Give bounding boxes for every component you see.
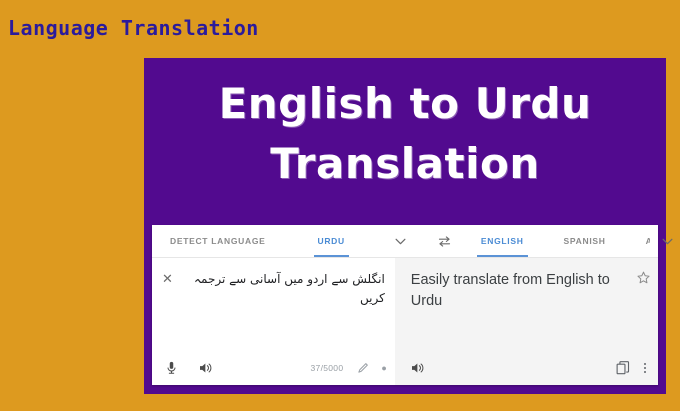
translator-card: DETECT LANGUAGE URDU ENGLISH SPANISH ARA… <box>152 225 658 385</box>
page-title: Language Translation <box>8 16 259 40</box>
source-language-tab-urdu[interactable]: URDU <box>314 225 349 257</box>
swap-languages-icon[interactable] <box>434 225 455 257</box>
speaker-icon[interactable] <box>199 362 213 374</box>
target-toolbar <box>395 351 658 385</box>
character-count: 37/5000 <box>311 363 344 373</box>
star-icon[interactable] <box>637 271 650 289</box>
translation-panes: ✕ انگلش سے اردو میں آسانی سے ترجمہ کریں <box>152 258 658 385</box>
copy-icon[interactable] <box>616 361 630 375</box>
promo-banner: English to Urdu Translation DETECT LANGU… <box>144 58 666 394</box>
target-language-tab-arabic[interactable]: ARABIC <box>642 225 650 257</box>
dot <box>644 367 646 369</box>
detect-language-tab[interactable]: DETECT LANGUAGE <box>166 225 270 257</box>
source-input-area[interactable]: ✕ انگلش سے اردو میں آسانی سے ترجمہ کریں <box>152 258 395 351</box>
translated-text: Easily translate from English to Urdu <box>411 270 637 312</box>
target-output-area: Easily translate from English to Urdu <box>395 258 658 351</box>
source-toolbar: 37/5000 ● <box>152 351 395 385</box>
more-icon[interactable]: ● <box>381 364 386 373</box>
banner-heading-line-2: Translation <box>144 134 666 194</box>
dot <box>644 371 646 373</box>
banner-heading: English to Urdu Translation <box>144 74 666 193</box>
microphone-icon[interactable] <box>166 361 177 375</box>
source-pane: ✕ انگلش سے اردو میں آسانی سے ترجمہ کریں <box>152 258 395 385</box>
target-language-tab-english[interactable]: ENGLISH <box>477 225 528 257</box>
source-language-chevron-down-icon[interactable] <box>391 225 410 257</box>
source-text[interactable]: انگلش سے اردو میں آسانی سے ترجمہ کریں <box>179 270 385 307</box>
speaker-icon[interactable] <box>411 362 425 374</box>
target-language-tab-spanish[interactable]: SPANISH <box>560 225 610 257</box>
more-vertical-icon[interactable] <box>644 363 646 373</box>
close-icon[interactable]: ✕ <box>162 272 173 285</box>
language-bar: DETECT LANGUAGE URDU ENGLISH SPANISH ARA… <box>152 225 658 258</box>
target-pane: Easily translate from English to Urdu <box>395 258 658 385</box>
banner-heading-line-1: English to Urdu <box>219 79 592 128</box>
dot <box>644 363 646 365</box>
pencil-icon[interactable] <box>357 362 369 374</box>
target-language-chevron-down-icon[interactable] <box>658 225 677 257</box>
